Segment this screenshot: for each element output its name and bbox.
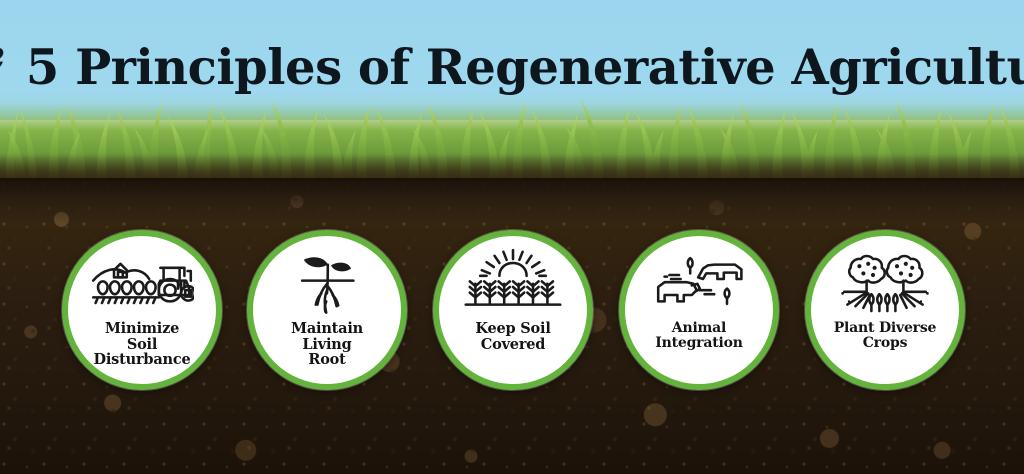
principle-card-animal-integration[interactable]: Animal Integration xyxy=(619,230,779,390)
title-script-word: The xyxy=(0,31,6,86)
principle-label: Animal Integration xyxy=(649,321,748,351)
principle-card-keep-soil-covered[interactable]: Keep Soil Covered xyxy=(433,230,593,390)
page-title: The 5 Principles of Regenerative Agricul… xyxy=(0,22,1024,92)
principle-card-maintain-living-root[interactable]: Maintain Living Root xyxy=(247,230,407,390)
two-cows-icon xyxy=(647,247,751,319)
regenerative-agriculture-infographic: The 5 Principles of Regenerative Agricul… xyxy=(0,0,1024,474)
principle-label: Minimize Soil Disturbance xyxy=(87,321,196,368)
tractor-plow-icon xyxy=(90,247,194,319)
title-main-text: 5 Principles of Regenerative Agriculture xyxy=(26,43,1024,92)
principle-card-plant-diverse-crops[interactable]: Plant Diverse Crops xyxy=(805,230,965,390)
sun-over-crops-icon xyxy=(461,247,565,319)
principle-label: Plant Diverse Crops xyxy=(828,321,943,351)
principle-card-minimize-soil-disturbance[interactable]: Minimize Soil Disturbance xyxy=(62,230,222,390)
principle-label: Keep Soil Covered xyxy=(469,321,556,352)
principle-label: Maintain Living Root xyxy=(285,321,369,368)
seedling-root-icon xyxy=(275,247,379,319)
orchard-trees-icon xyxy=(833,247,937,319)
